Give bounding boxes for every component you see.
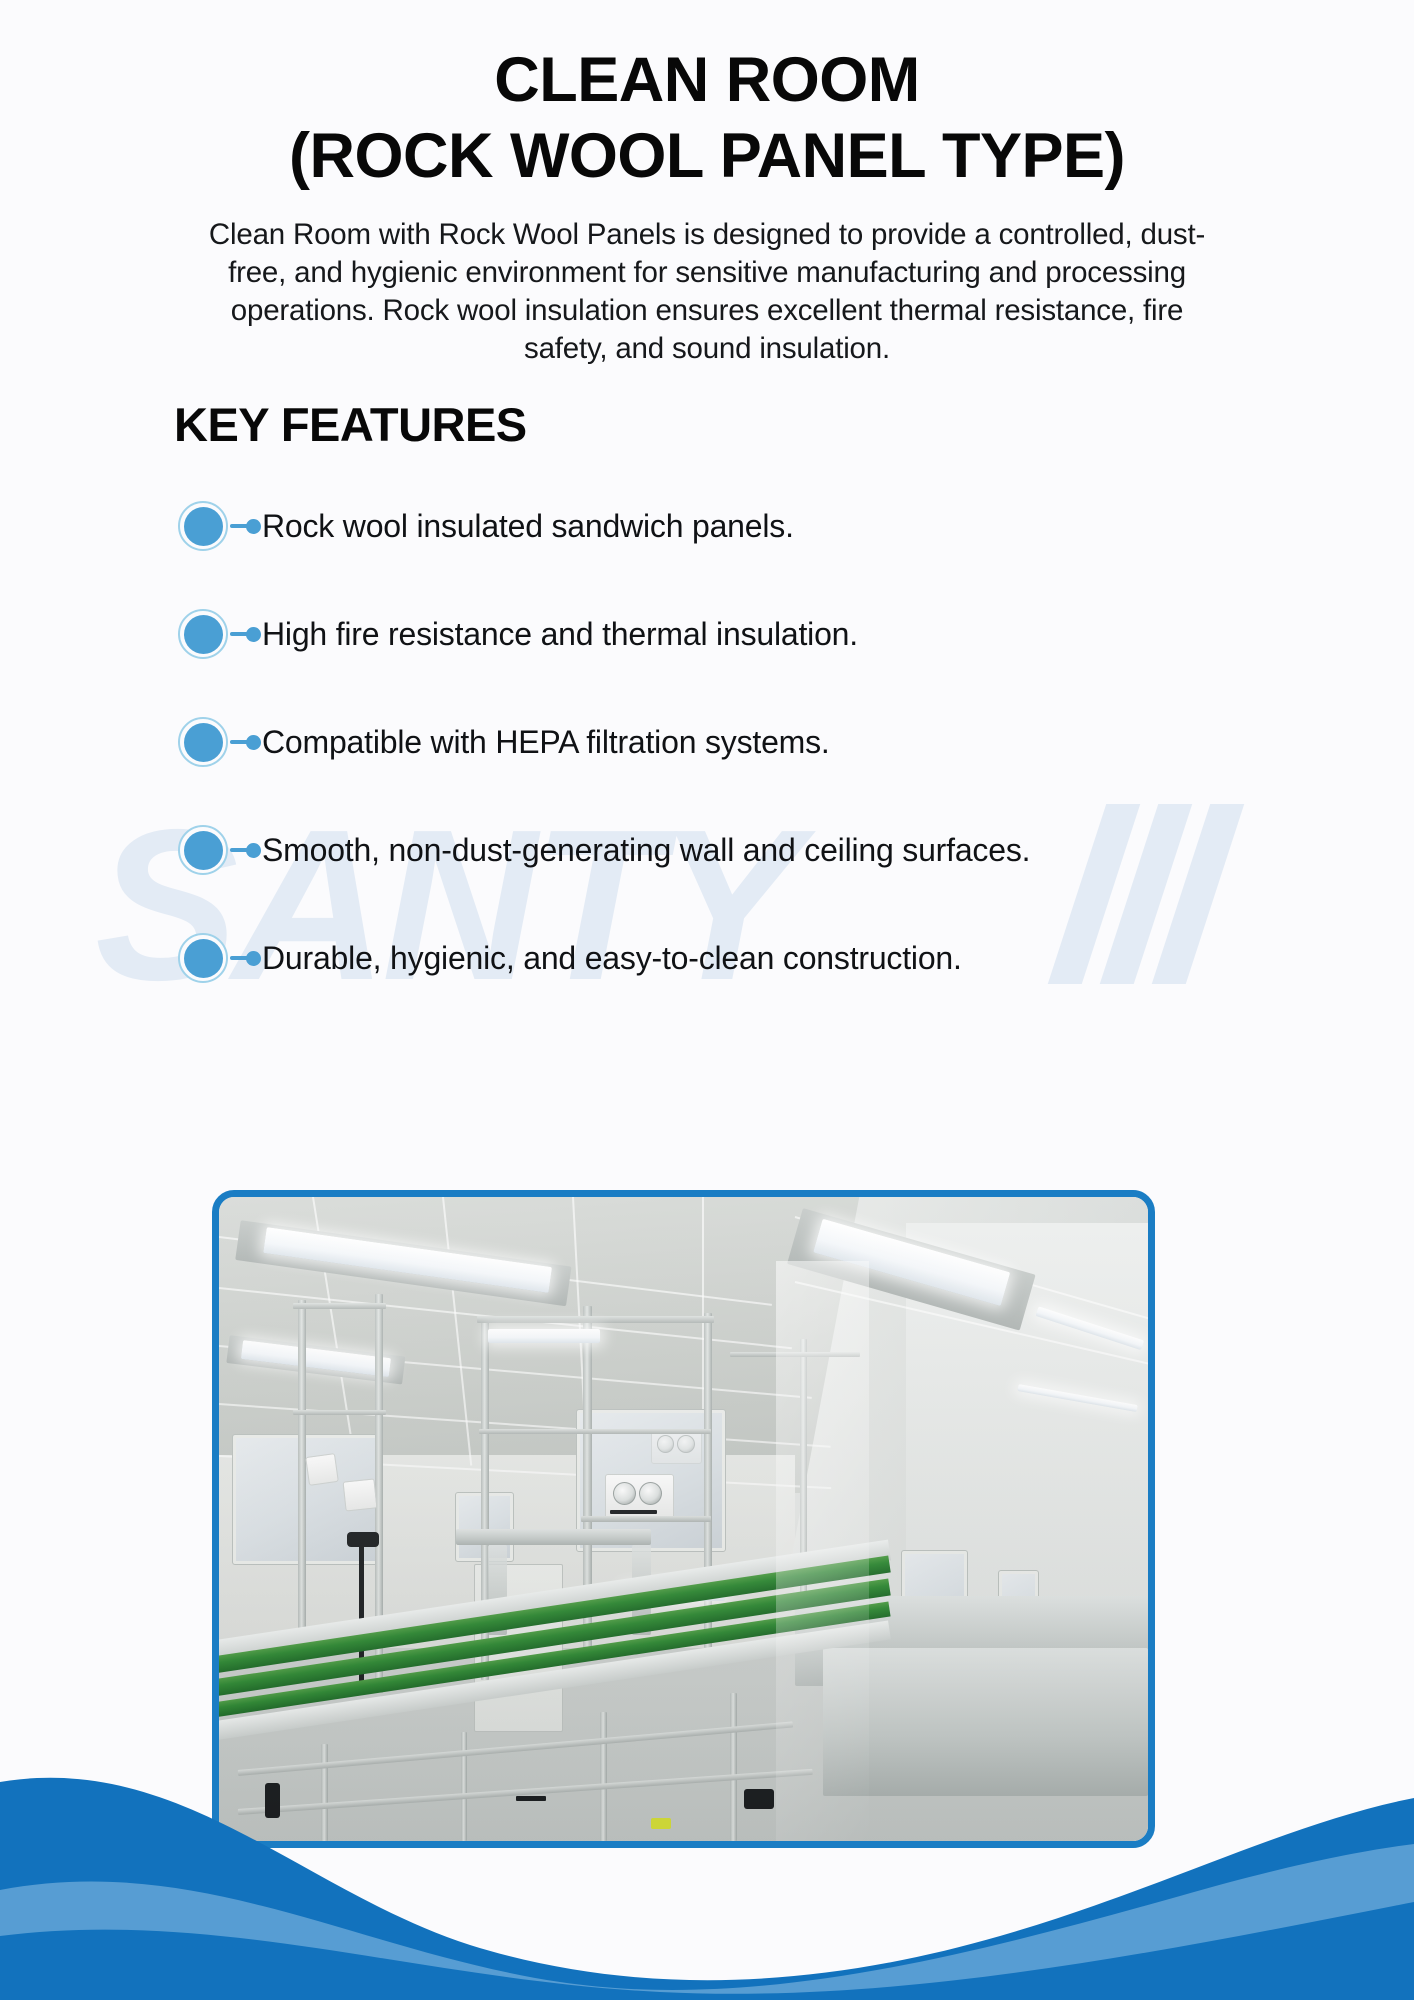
page-title: CLEAN ROOM (ROCK WOOL PANEL TYPE) xyxy=(0,0,1414,194)
intro-paragraph: Clean Room with Rock Wool Panels is desi… xyxy=(207,216,1207,368)
bullet-marker-icon xyxy=(178,822,262,878)
list-item: Durable, hygienic, and easy-to-clean con… xyxy=(178,922,1414,994)
wave-svg xyxy=(0,1740,1414,2000)
title-line-2: (ROCK WOOL PANEL TYPE) xyxy=(0,118,1414,194)
key-features-list: Rock wool insulated sandwich panels. Hig… xyxy=(178,490,1414,994)
bullet-marker-icon xyxy=(178,606,262,662)
list-item: Compatible with HEPA filtration systems. xyxy=(178,706,1414,778)
feature-text: Smooth, non-dust-generating wall and cei… xyxy=(262,829,1030,871)
list-item: Smooth, non-dust-generating wall and cei… xyxy=(178,814,1414,886)
title-line-1: CLEAN ROOM xyxy=(0,42,1414,118)
feature-text: Rock wool insulated sandwich panels. xyxy=(262,505,794,547)
feature-text: Compatible with HEPA filtration systems. xyxy=(262,721,830,763)
key-features-heading: KEY FEATURES xyxy=(174,396,1414,454)
feature-text: Durable, hygienic, and easy-to-clean con… xyxy=(262,937,962,979)
footer-wave-decoration xyxy=(0,1740,1414,2000)
list-item: Rock wool insulated sandwich panels. xyxy=(178,490,1414,562)
bullet-marker-icon xyxy=(178,714,262,770)
list-item: High fire resistance and thermal insulat… xyxy=(178,598,1414,670)
poster-page: SANTY CLEAN ROOM (ROCK WOOL PANEL TYPE) … xyxy=(0,0,1414,2000)
bullet-marker-icon xyxy=(178,498,262,554)
bullet-marker-icon xyxy=(178,930,262,986)
feature-text: High fire resistance and thermal insulat… xyxy=(262,613,858,655)
